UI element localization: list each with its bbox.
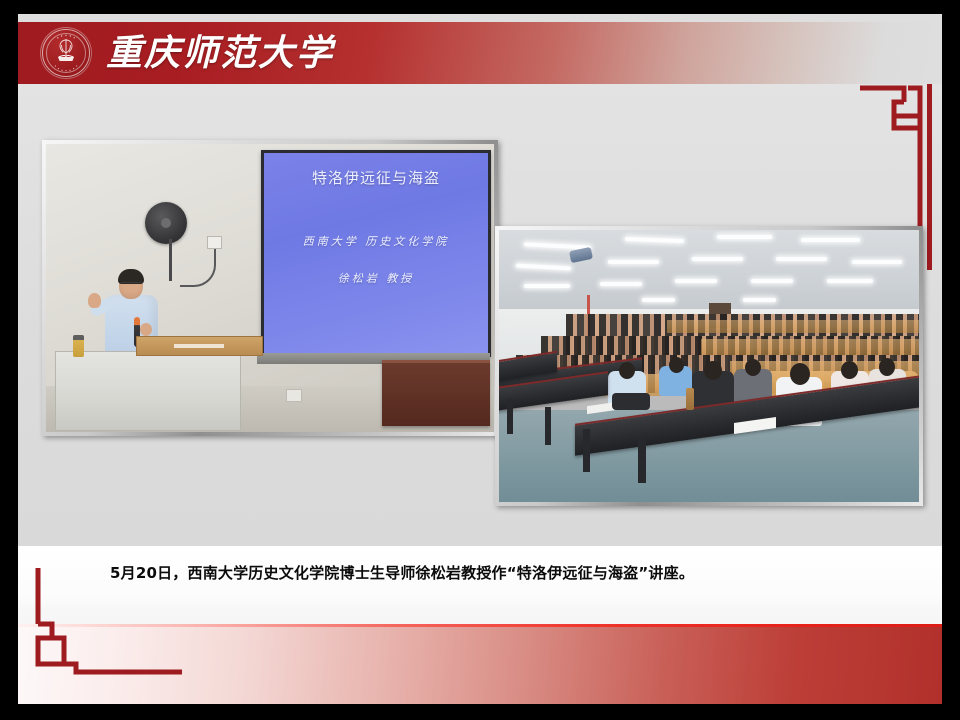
projection-screen: 特洛伊远征与海盗 西南大学 历史文化学院 徐松岩 教授 <box>261 150 491 358</box>
university-name: 重庆师范大学 <box>106 35 334 71</box>
caption-zone: 5月20日，西南大学历史文化学院博士生导师徐松岩教授作“特洛伊远征与海盗”讲座。 <box>18 546 942 704</box>
slide-speaker-on-screen: 徐松岩 教授 <box>264 270 488 286</box>
corner-ornament-bottom-left-icon <box>32 568 182 688</box>
header-banner: 重庆师范大学 <box>18 22 942 84</box>
thermos-cup <box>73 335 84 357</box>
audience-photo <box>495 226 923 506</box>
university-seal-icon <box>40 27 92 79</box>
lecturer-photo: 特洛伊远征与海盗 西南大学 历史文化学院 徐松岩 教授 <box>42 140 498 436</box>
slide-title-on-screen: 特洛伊远征与海盗 <box>264 167 488 188</box>
slide-affiliation-on-screen: 西南大学 历史文化学院 <box>264 233 488 249</box>
wooden-table <box>382 360 490 426</box>
presentation-slide: 重庆师范大学 特洛伊远征与海盗 西南大学 历史文化学院 徐松岩 教授 <box>18 14 942 704</box>
caption-text: 5月20日，西南大学历史文化学院博士生导师徐松岩教授作“特洛伊远征与海盗”讲座。 <box>110 562 900 583</box>
vertical-accent-line <box>927 84 932 270</box>
content-area: 特洛伊远征与海盗 西南大学 历史文化学院 徐松岩 教授 <box>18 84 942 546</box>
wall-fan-icon <box>145 202 187 244</box>
podium <box>55 351 241 431</box>
